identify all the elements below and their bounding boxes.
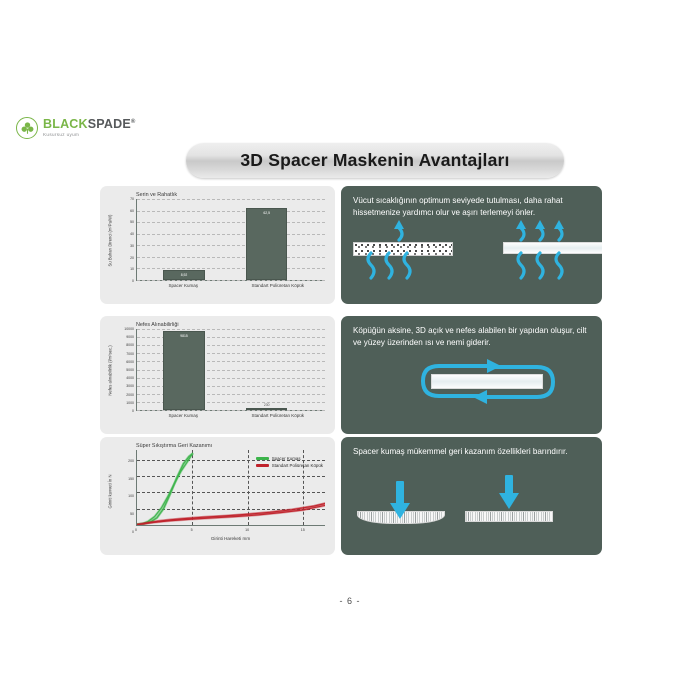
x-axis-categories: Spacer KumaşStandart Poliüretan Köpük [136, 283, 325, 289]
gridline [137, 211, 325, 212]
legend-swatch [256, 457, 269, 461]
y-axis-label: Su Buharı Direnci (m²Pa/W) [105, 199, 115, 281]
y-tick-label: 2000 [126, 393, 134, 397]
page-title-banner: 3D Spacer Maskenin Avantajları [186, 143, 564, 178]
info-panel-text: Köpüğün aksine, 3D açık ve nefes alabile… [353, 325, 590, 348]
plot-area: 9815230 [136, 329, 325, 411]
info-panel-temperature: Vücut sıcaklığının optimum seviyede tutu… [341, 186, 602, 304]
circulation-illustration [341, 346, 602, 430]
bar: 62,5 [246, 208, 287, 280]
legend-item: Standart Poliüretan Köpük [256, 463, 323, 468]
legend-item: Spacer Kumaş [256, 456, 323, 461]
clover-spade-icon [16, 117, 38, 139]
compression-illustration [341, 467, 602, 551]
bar: 230 [246, 408, 287, 410]
chart-legend: Spacer KumaşStandart Poliüretan Köpük [256, 456, 323, 470]
y-tick-label: 10 [130, 267, 134, 271]
y-axis-ticks: 050100150200 [115, 450, 135, 532]
y-tick-label: 6000 [126, 360, 134, 364]
chart-title: Süper Sıkıştırma Geri Kazanımı [136, 443, 329, 449]
info-panel-breathability: Köpüğün aksine, 3D açık ve nefes alabile… [341, 316, 602, 434]
y-tick-label: 50 [130, 220, 134, 224]
gridline [137, 410, 325, 411]
y-tick-label: 0 [132, 409, 134, 413]
y-tick-label: 8000 [126, 343, 134, 347]
y-tick-label: 1000 [126, 401, 134, 405]
advantage-row-1: Serin ve Rahatlık Su Buharı Direnci (m²P… [100, 186, 602, 304]
bar: 9815 [163, 331, 204, 411]
info-panel-recovery: Spacer kumaş mükemmel geri kazanım özell… [341, 437, 602, 555]
airflow-illustration [341, 216, 602, 300]
x-tick-label: 5 [191, 528, 193, 532]
brand-tagline: Kusursuz uyum [43, 133, 136, 138]
chart-title: Serin ve Rahatlık [136, 192, 329, 198]
y-tick-label: 30 [130, 244, 134, 248]
gridline [137, 257, 325, 258]
y-tick-label: 0 [132, 530, 134, 534]
chart-card-water-vapour: Serin ve Rahatlık Su Buharı Direnci (m²P… [100, 186, 335, 304]
legend-swatch [256, 464, 269, 468]
x-category-label: Standart Poliüretan Köpük [231, 283, 326, 289]
y-tick-label: 150 [128, 477, 134, 481]
y-tick-label: 9000 [126, 335, 134, 339]
gridline [137, 245, 325, 246]
legend-label: Spacer Kumaş [272, 456, 301, 461]
y-tick-label: 20 [130, 256, 134, 260]
brand-logo: BLACKSPADE® Kusursuz uyum [16, 117, 136, 139]
y-tick-label: 70 [130, 197, 134, 201]
info-panel-text: Vücut sıcaklığının optimum seviyede tutu… [353, 195, 590, 218]
y-tick-label: 0 [132, 279, 134, 283]
gridline [137, 234, 325, 235]
x-axis-categories: Spacer KumaşStandart Poliüretan Köpük [136, 413, 325, 419]
gridline [137, 199, 325, 200]
y-axis-ticks: 010203040506070 [115, 199, 135, 281]
y-axis-ticks: 0100020003000400050006000700080009000100… [115, 329, 135, 411]
plot-area: 8,9262,5 [136, 199, 325, 281]
bar-value-label: 62,5 [247, 211, 286, 215]
y-tick-label: 10000 [124, 327, 134, 331]
advantage-row-3: Süper Sıkıştırma Geri Kazanımı Girinti k… [100, 437, 602, 555]
brand-wordmark: BLACKSPADE® [43, 118, 136, 131]
bar-value-label: 9815 [164, 334, 203, 338]
info-panel-text: Spacer kumaş mükemmel geri kazanım özell… [353, 446, 590, 458]
y-tick-label: 200 [128, 459, 134, 463]
bar-value-label: 8,92 [164, 273, 203, 277]
gridline [137, 280, 325, 281]
x-category-label: Standart Poliüretan Köpük [231, 413, 326, 419]
x-tick-label: 15 [301, 528, 305, 532]
series-line [137, 454, 192, 524]
gridline [137, 222, 325, 223]
x-tick-label: 10 [245, 528, 249, 532]
advantage-row-2: Nefes Alınabilirliği Nefes alınabilirlik… [100, 316, 602, 434]
chart-card-compression: Süper Sıkıştırma Geri Kazanımı Girinti k… [100, 437, 335, 555]
y-tick-label: 7000 [126, 352, 134, 356]
page-title: 3D Spacer Maskenin Avantajları [240, 150, 509, 171]
bar: 8,92 [163, 270, 204, 280]
y-tick-label: 100 [128, 494, 134, 498]
x-category-label: Spacer Kumaş [136, 283, 231, 289]
y-axis-label: Girinti kuvveti İn N [105, 450, 115, 532]
bar-value-label: 230 [247, 403, 286, 407]
y-axis-label: Nefes alınabilirlik (l/m²sec.) [105, 329, 115, 411]
chart-card-breathability: Nefes Alınabilirliği Nefes alınabilirlik… [100, 316, 335, 434]
y-tick-label: 60 [130, 209, 134, 213]
y-tick-label: 3000 [126, 384, 134, 388]
page-number: - 6 - [0, 596, 700, 606]
y-tick-label: 5000 [126, 368, 134, 372]
x-axis-label: Girinti Hareketi mm [136, 536, 325, 541]
x-category-label: Spacer Kumaş [136, 413, 231, 419]
registered-mark: ® [131, 119, 136, 125]
x-axis-ticks: 051015 [136, 528, 325, 534]
document-page: BLACKSPADE® Kusursuz uyum 3D Spacer Mask… [0, 0, 700, 700]
y-tick-label: 50 [130, 512, 134, 516]
y-tick-label: 4000 [126, 376, 134, 380]
y-tick-label: 40 [130, 232, 134, 236]
legend-label: Standart Poliüretan Köpük [272, 463, 323, 468]
brand-word-b: SPADE [88, 117, 131, 131]
x-tick-label: 0 [135, 528, 137, 532]
chart-title: Nefes Alınabilirliği [136, 322, 329, 328]
brand-word-a: BLACK [43, 117, 88, 131]
